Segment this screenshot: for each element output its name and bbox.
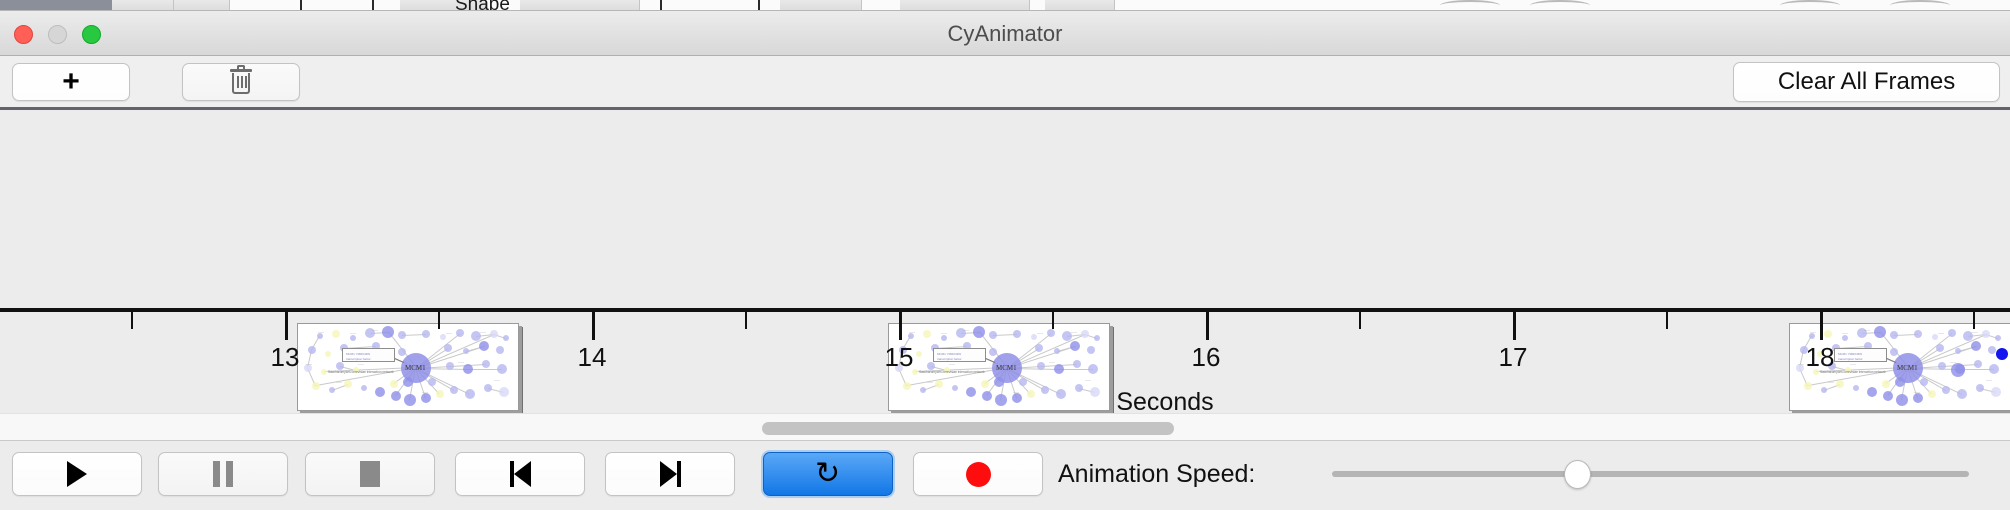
ruler-major-tick: [285, 312, 288, 340]
network-node: [1995, 335, 2001, 341]
network-node-label: ——: [358, 362, 364, 366]
network-hub-label: MCM1: [996, 364, 1017, 372]
network-thumbnail: MCM1MCM1 YMR043Wtranscription factorSacc…: [298, 324, 518, 410]
play-button[interactable]: [12, 452, 142, 496]
network-node: [1821, 387, 1827, 393]
ruler-minor-tick: [1359, 312, 1361, 329]
network-node-label: ——: [1864, 328, 1870, 332]
network-node-label: ——: [306, 362, 312, 366]
network-node-label: ——: [422, 390, 428, 394]
network-node-label: ——: [1828, 380, 1834, 384]
network-tooltip-line: transcription factor: [346, 357, 371, 361]
network-node: [1027, 390, 1035, 398]
network-node: [391, 391, 401, 401]
network-tooltip-line: transcription factor: [937, 357, 962, 361]
network-node: [499, 387, 509, 397]
titlebar: CyAnimator: [0, 11, 2010, 56]
network-node: [1035, 344, 1043, 352]
record-icon: [966, 462, 991, 487]
network-node-label: ——: [318, 330, 324, 334]
record-button[interactable]: [913, 452, 1043, 496]
background-window-text: Shape: [455, 0, 510, 11]
plus-icon: +: [62, 67, 80, 97]
network-node: [1991, 387, 2001, 397]
network-node-label: ——: [1037, 331, 1043, 335]
animation-speed-label: Animation Speed:: [1058, 452, 1255, 496]
ruler-major-tick: [899, 312, 902, 340]
ruler-minor-tick: [438, 312, 440, 329]
network-node: [1012, 393, 1022, 403]
scrollbar-thumb[interactable]: [762, 422, 1174, 435]
network-node: [935, 380, 943, 388]
network-node: [332, 330, 340, 338]
network-node: [465, 389, 475, 399]
network-node: [1081, 330, 1089, 338]
network-tooltip-line: MCM1 YMR043W: [937, 352, 961, 356]
network-node: [422, 330, 430, 338]
pause-button[interactable]: [158, 452, 288, 496]
network-node: [456, 329, 464, 337]
add-frame-button[interactable]: +: [12, 63, 130, 101]
ruler-tick-label: 16: [1192, 342, 1221, 373]
network-node: [1094, 335, 1100, 341]
network-node: [497, 364, 507, 374]
network-node-label: ——: [494, 378, 500, 382]
stop-button[interactable]: [305, 452, 435, 496]
network-node: [1070, 341, 1080, 351]
network-node: [421, 393, 431, 403]
network-tooltip-line: MCM1 YMR043W: [1838, 352, 1862, 356]
pause-icon: [213, 461, 233, 487]
network-node: [1054, 364, 1064, 374]
stop-icon: [360, 461, 380, 487]
network-node: [1971, 341, 1981, 351]
network-node: [1890, 348, 1898, 356]
ruler-minor-tick: [1973, 312, 1975, 329]
network-node: [973, 326, 985, 338]
network-node: [336, 362, 344, 370]
network-node: [1867, 387, 1877, 397]
network-node: [382, 326, 394, 338]
network-node: [1013, 330, 1021, 338]
network-node: [1955, 348, 1961, 354]
ruler-minor-tick: [131, 312, 133, 329]
network-node: [1073, 360, 1081, 368]
network-node: [927, 362, 935, 370]
network-node-label: ——: [1798, 362, 1804, 366]
network-node-label: ——: [336, 380, 342, 384]
network-node: [1982, 330, 1990, 338]
network-tooltip-line: transcription factor: [1838, 357, 1863, 361]
network-node: [1037, 362, 1045, 370]
network-node: [1882, 380, 1890, 388]
clear-all-frames-button[interactable]: Clear All Frames: [1733, 62, 2000, 102]
network-tooltip-line: MCM1 YMR043W: [346, 352, 370, 356]
network-node-label: ——: [1986, 378, 1992, 382]
network-node: [1090, 387, 1100, 397]
network-node-label: ——: [909, 330, 915, 334]
network-node: [1988, 346, 1996, 354]
loop-icon: ↻: [815, 460, 841, 488]
network-node: [1047, 329, 1055, 337]
cyanimator-window: Shape CyAnimator + Clear All Frames: [0, 0, 2010, 510]
ruler-tick-label: 13: [271, 342, 300, 373]
network-node: [496, 346, 504, 354]
network-node: [398, 331, 406, 339]
network-node-label: ——: [1938, 331, 1944, 335]
ruler-tick-label: 18: [1806, 342, 1835, 373]
network-tooltip: MCM1 YMR043Wtranscription factor: [933, 348, 986, 362]
network-node: [398, 348, 406, 356]
network-node: [1896, 394, 1908, 406]
network-node: [375, 387, 385, 397]
ruler-major-tick: [1513, 312, 1516, 340]
network-node-label: ——: [1013, 390, 1019, 394]
network-node: [321, 369, 327, 375]
timeline-frame[interactable]: MCM1MCM1 YMR043Wtranscription factorSacc…: [888, 323, 1110, 411]
network-node: [1914, 330, 1922, 338]
network-node: [952, 385, 958, 391]
network-node-label: ——: [1085, 378, 1091, 382]
network-node-label: ——: [1049, 360, 1055, 364]
network-node: [989, 348, 997, 356]
network-node: [1974, 360, 1982, 368]
network-node-label: ——: [372, 328, 378, 332]
ruler-tick-label: 15: [885, 342, 914, 373]
network-node: [490, 330, 498, 338]
network-node: [1056, 389, 1066, 399]
network-node: [436, 390, 444, 398]
animation-speed-slider[interactable]: [1332, 452, 1969, 496]
network-node: [1883, 391, 1893, 401]
skip-backward-button[interactable]: [455, 452, 585, 496]
clear-all-frames-label: Clear All Frames: [1778, 68, 1955, 96]
network-node: [1087, 346, 1095, 354]
background-window: Shape: [0, 0, 2010, 11]
network-node-label: ——: [927, 380, 933, 384]
network-node: [350, 335, 356, 341]
network-node: [482, 360, 490, 368]
skip-forward-icon: [660, 461, 681, 487]
network-node: [312, 382, 320, 390]
network-node: [450, 386, 458, 394]
ruler-tick-label: 14: [578, 342, 607, 373]
network-node: [1853, 385, 1859, 391]
network-thumbnail: MCM1MCM1 YMR043Wtranscription factorSacc…: [889, 324, 1109, 410]
network-node: [390, 380, 398, 388]
ruler-major-tick: [592, 312, 595, 340]
network-node-label: ——: [1950, 360, 1956, 364]
network-node-label: ——: [1842, 331, 1848, 335]
ruler-major-tick: [1206, 312, 1209, 340]
play-icon: [67, 461, 87, 487]
skip-forward-button[interactable]: [605, 452, 735, 496]
network-tooltip: MCM1 YMR043Wtranscription factor: [342, 348, 395, 362]
network-node: [1804, 382, 1812, 390]
network-node: [923, 330, 931, 338]
network-node: [1913, 393, 1923, 403]
network-hub-label: MCM1: [1897, 364, 1918, 372]
network-node: [1938, 362, 1946, 370]
trash-icon: [230, 69, 252, 95]
network-node: [1976, 384, 1984, 392]
network-node: [1928, 390, 1936, 398]
loop-button[interactable]: ↻: [763, 452, 893, 496]
network-node: [428, 378, 436, 386]
ruler-minor-tick: [1052, 312, 1054, 329]
window-title: CyAnimator: [0, 11, 2010, 56]
network-node: [446, 362, 454, 370]
network-node: [1836, 380, 1844, 388]
network-node: [981, 380, 989, 388]
ruler-tick-label: 17: [1499, 342, 1528, 373]
network-node: [941, 335, 947, 341]
network-node-label: ——: [1850, 362, 1856, 366]
network-node: [444, 344, 452, 352]
network-node-label: ——: [941, 331, 947, 335]
network-node: [989, 331, 997, 339]
playback-controls: ↻ Animation Speed:: [0, 442, 2010, 510]
network-node: [463, 348, 469, 354]
network-node: [1957, 389, 1967, 399]
network-caption: Saccharomyces cerevisiae interaction net…: [328, 370, 394, 374]
network-node-label: ——: [446, 331, 452, 335]
frame-toolbar: + Clear All Frames: [0, 56, 2010, 108]
network-node: [1948, 329, 1956, 337]
timeline-frame[interactable]: MCM1MCM1 YMR043Wtranscription factorSacc…: [297, 323, 519, 411]
network-node: [463, 364, 473, 374]
timeline-panel[interactable]: MCM1MCM1 YMR043Wtranscription factorSacc…: [0, 110, 2010, 413]
network-node: [308, 346, 316, 354]
network-node: [361, 385, 367, 391]
network-node: [916, 351, 922, 357]
network-node-label: ——: [963, 328, 969, 332]
network-node-label: ——: [949, 362, 955, 366]
slider-knob[interactable]: [1564, 460, 1591, 489]
network-node: [1041, 386, 1049, 394]
timeline-ruler: [0, 308, 2010, 312]
network-node-label: ——: [1071, 330, 1077, 334]
ruler-major-tick: [1820, 312, 1823, 340]
network-node: [325, 351, 331, 357]
timeline-scrollbar[interactable]: [0, 413, 2010, 441]
network-node: [1824, 330, 1832, 338]
skip-backward-icon: [510, 461, 531, 487]
delete-frame-button[interactable]: [182, 63, 300, 101]
ruler-minor-tick: [1666, 312, 1668, 329]
network-node: [503, 335, 509, 341]
network-node: [1842, 335, 1848, 341]
network-node: [1088, 364, 1098, 374]
network-node: [479, 341, 489, 351]
network-node-label: ——: [1810, 330, 1816, 334]
network-node: [1054, 348, 1060, 354]
network-node: [982, 391, 992, 401]
network-node: [903, 382, 911, 390]
network-node: [404, 394, 416, 406]
network-node: [1075, 384, 1083, 392]
network-node: [966, 387, 976, 397]
network-node: [1942, 386, 1950, 394]
network-node: [1890, 331, 1898, 339]
network-node: [344, 380, 352, 388]
network-tooltip: MCM1 YMR043Wtranscription factor: [1834, 348, 1887, 362]
slider-track: [1332, 471, 1969, 477]
network-caption: Saccharomyces cerevisiae interaction net…: [919, 370, 985, 374]
network-node-label: ——: [1914, 390, 1920, 394]
network-node-label: ——: [458, 360, 464, 364]
network-node: [1874, 326, 1886, 338]
ruler-minor-tick: [745, 312, 747, 329]
network-hub-label: MCM1: [405, 364, 426, 372]
network-node: [995, 394, 1007, 406]
network-node: [1936, 344, 1944, 352]
network-node-label: ——: [1972, 330, 1978, 334]
network-node: [1996, 348, 2008, 360]
axis-title: Seconds: [1116, 388, 1213, 413]
network-node: [1951, 363, 1965, 377]
network-node-label: ——: [480, 330, 486, 334]
network-node: [484, 384, 492, 392]
network-node: [1920, 378, 1928, 386]
network-node: [1989, 364, 1999, 374]
network-node: [920, 387, 926, 393]
network-node: [329, 387, 335, 393]
network-node: [1019, 378, 1027, 386]
network-node-label: ——: [350, 331, 356, 335]
